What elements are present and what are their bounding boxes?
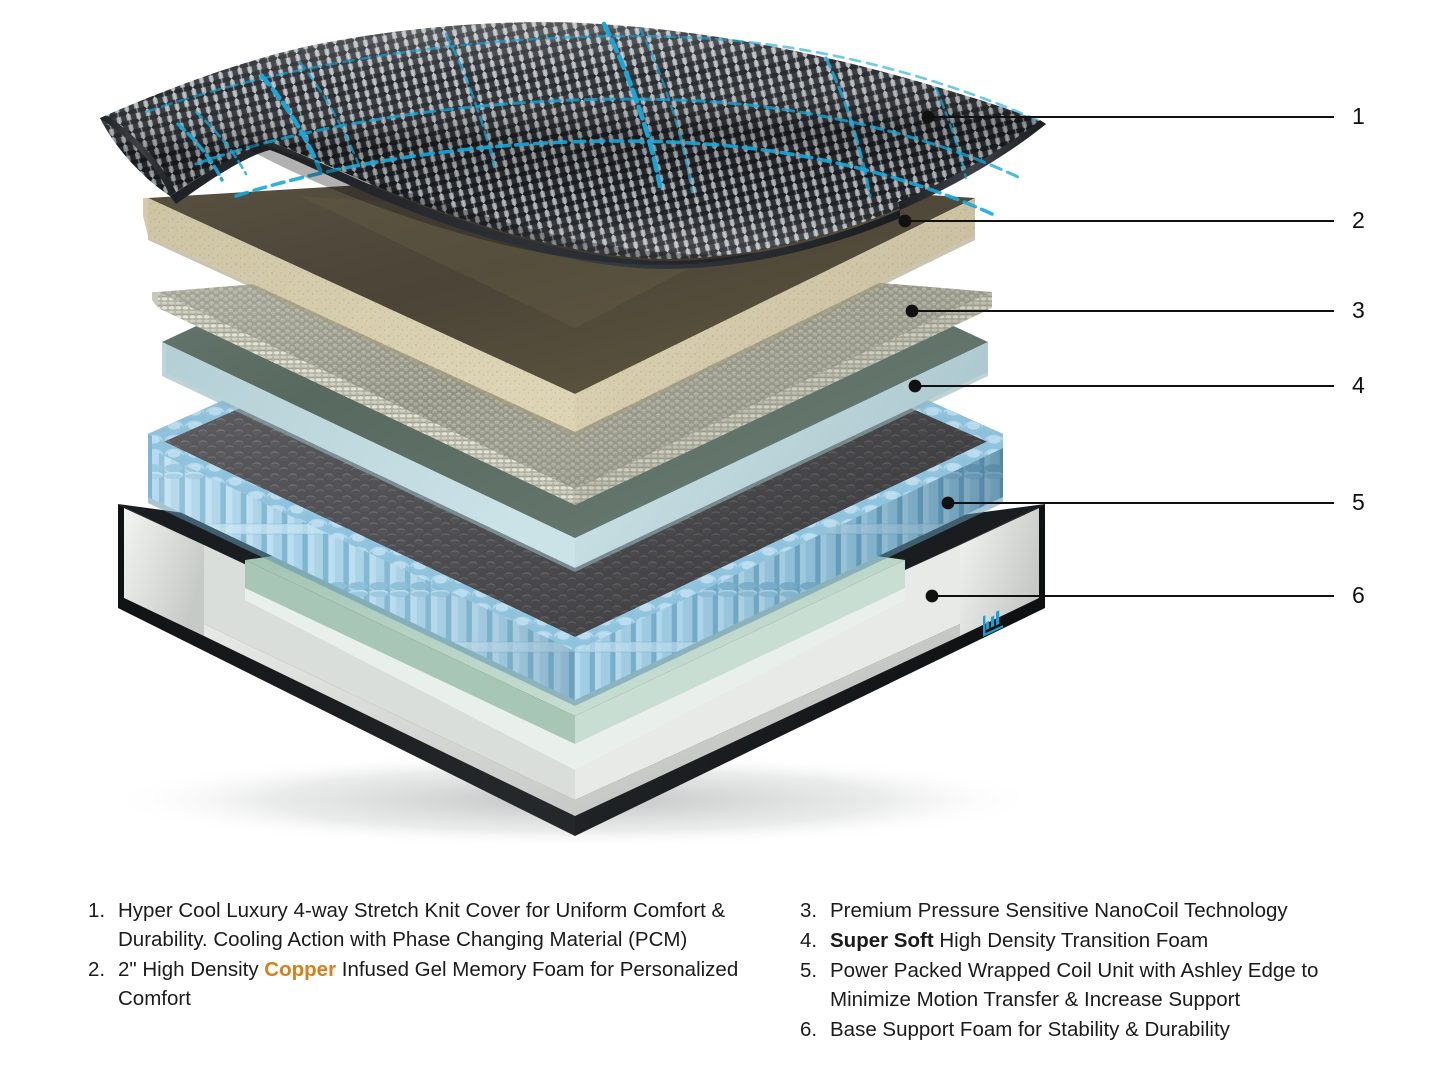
legend-column-left: 1.Hyper Cool Luxury 4-way Stretch Knit C… — [88, 896, 788, 1014]
legend-text-run: 2" High Density — [118, 958, 264, 981]
legend-item-text: 2" High Density Copper Infused Gel Memor… — [118, 955, 788, 1013]
copper-foam-left-tip — [143, 198, 148, 236]
legend-item-number: 5. — [800, 956, 830, 985]
nanocoil-left-tip — [152, 292, 158, 308]
callout-dot-6 — [926, 590, 939, 603]
legend-item: 4.Super Soft High Density Transition Foa… — [800, 926, 1380, 955]
legend-item-number: 6. — [800, 1015, 830, 1044]
legend-text-run: Premium Pressure Sensitive NanoCoil Tech… — [830, 899, 1288, 922]
callout-number-6: 6 — [1352, 584, 1365, 607]
callout-dot-2 — [899, 215, 912, 228]
legend-item-text: Power Packed Wrapped Coil Unit with Ashl… — [830, 956, 1380, 1014]
legend-text-run: Hyper Cool Luxury 4-way Stretch Knit Cov… — [118, 899, 725, 951]
legend-item-text: Premium Pressure Sensitive NanoCoil Tech… — [830, 896, 1380, 925]
callout-number-2: 2 — [1352, 209, 1365, 232]
legend-item: 3.Premium Pressure Sensitive NanoCoil Te… — [800, 896, 1380, 925]
legend-column-right: 3.Premium Pressure Sensitive NanoCoil Te… — [800, 896, 1380, 1045]
layer-legend: 1.Hyper Cool Luxury 4-way Stretch Knit C… — [0, 896, 1445, 1084]
callout-dot-4 — [909, 380, 922, 393]
legend-item-number: 1. — [88, 896, 118, 925]
callout-number-5: 5 — [1352, 491, 1365, 514]
legend-item-number: 4. — [800, 926, 830, 955]
callout-number-3: 3 — [1352, 299, 1365, 322]
legend-item: 2.2" High Density Copper Infused Gel Mem… — [88, 955, 788, 1013]
legend-item-text: Hyper Cool Luxury 4-way Stretch Knit Cov… — [118, 896, 788, 954]
legend-text-run: Power Packed Wrapped Coil Unit with Ashl… — [830, 959, 1318, 1011]
legend-item-text: Super Soft High Density Transition Foam — [830, 926, 1380, 955]
callout-dot-5 — [942, 497, 955, 510]
exploded-mattress-diagram — [0, 0, 1445, 880]
legend-item: 1.Hyper Cool Luxury 4-way Stretch Knit C… — [88, 896, 788, 954]
legend-item-text: Base Support Foam for Stability & Durabi… — [830, 1015, 1380, 1044]
legend-item: 5.Power Packed Wrapped Coil Unit with As… — [800, 956, 1380, 1014]
callout-number-4: 4 — [1352, 374, 1365, 397]
legend-item-number: 2. — [88, 955, 118, 984]
legend-bold-phrase: Super Soft — [830, 929, 934, 952]
coil-wall-left-side — [148, 434, 152, 499]
legend-text-run: Base Support Foam for Stability & Durabi… — [830, 1018, 1230, 1041]
legend-text-run: High Density Transition Foam — [934, 929, 1209, 952]
transition-foam-left-tip — [162, 342, 166, 374]
callout-number-1: 1 — [1352, 105, 1365, 128]
callout-dot-3 — [906, 305, 919, 318]
mattress-construction-infographic: 1 2 3 4 5 6 1.Hyper Cool Luxury 4-way St… — [0, 0, 1445, 1084]
legend-highlight-word: Copper — [264, 958, 336, 981]
legend-item-number: 3. — [800, 896, 830, 925]
legend-item: 6.Base Support Foam for Stability & Dura… — [800, 1015, 1380, 1044]
callout-dot-1 — [922, 111, 935, 124]
